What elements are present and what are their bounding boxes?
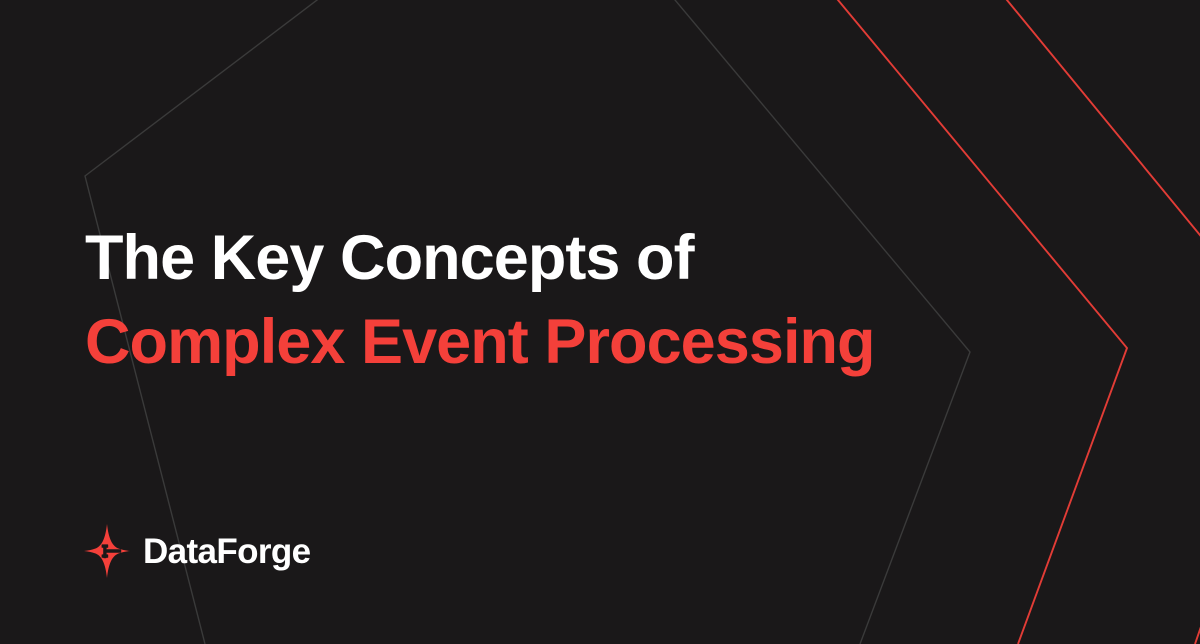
social-share-banner: The Key Concepts of Complex Event Proces… bbox=[0, 0, 1200, 644]
brand-wordmark: DataForge bbox=[143, 534, 310, 569]
page-title-line-primary: The Key Concepts of bbox=[85, 216, 875, 300]
accent-chevron-inner-icon bbox=[833, 0, 1127, 644]
dataforge-star-hammer-icon bbox=[84, 524, 130, 578]
page-title-line-accent: Complex Event Processing bbox=[85, 300, 875, 384]
page-title: The Key Concepts of Complex Event Proces… bbox=[85, 216, 875, 384]
brand-logo-lockup: DataForge bbox=[84, 524, 310, 578]
accent-chevron-outer-icon bbox=[1002, 0, 1200, 644]
